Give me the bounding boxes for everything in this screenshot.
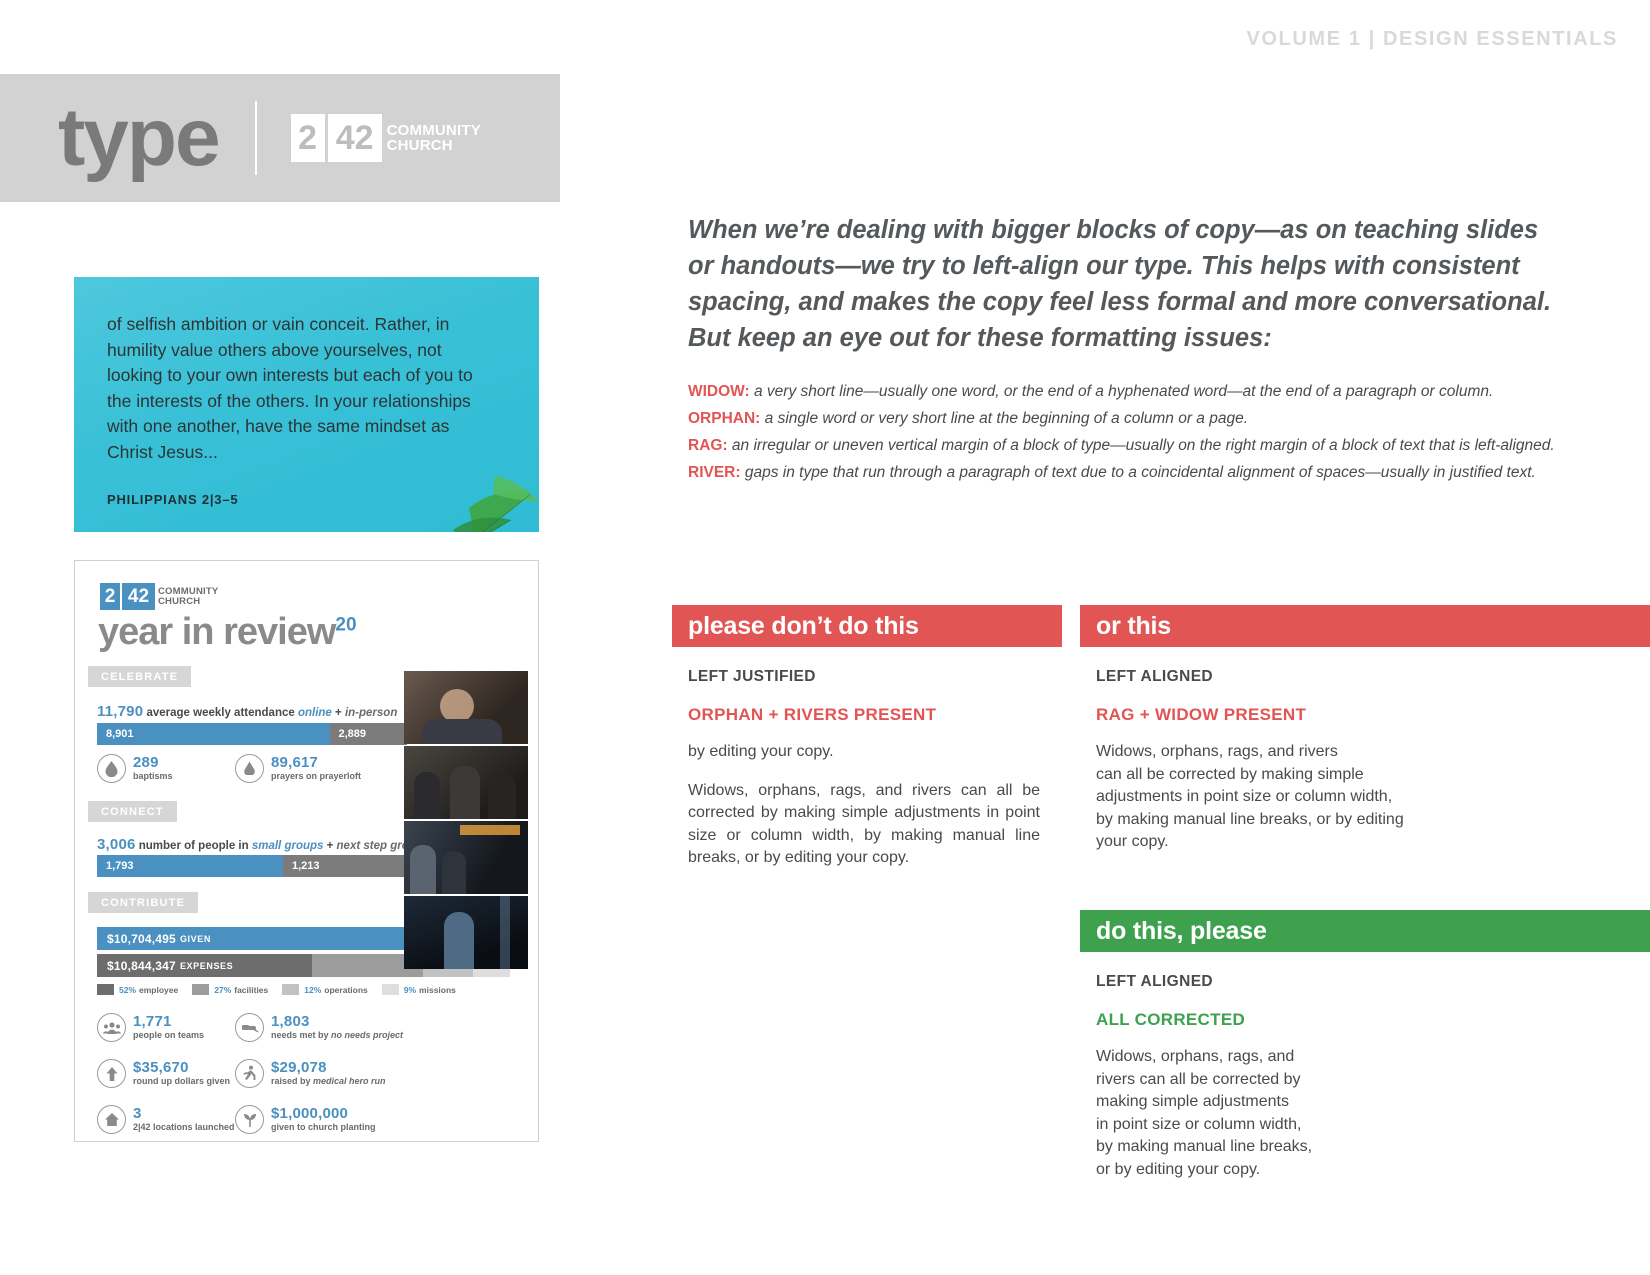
attendance-bar-online: 8,901 — [97, 723, 330, 745]
bad-example-label-right: or this — [1096, 612, 1171, 641]
stat-church-planting-text: $1,000,000 given to church planting — [271, 1106, 376, 1133]
title-block: type 2 42 COMMUNITY CHURCH — [0, 74, 560, 202]
stat-church-planting-label: given to church planting — [271, 1121, 376, 1133]
stat-people-on-teams-value: 1,771 — [133, 1014, 204, 1029]
stat-people-on-teams-text: 1,771 people on teams — [133, 1014, 204, 1041]
stat-needs-met-label-italic: no needs project — [331, 1030, 403, 1040]
infographic-logo-box-42: 42 — [122, 583, 155, 610]
given-suffix: GIVEN — [180, 934, 211, 944]
infographic-title-year: 20 — [335, 614, 356, 635]
legend-label-operations: operations — [324, 985, 367, 995]
year-in-review-infographic: 2 42 COMMUNITY CHURCH year in review20 C… — [74, 560, 539, 1142]
attendance-label-online: online — [298, 707, 332, 719]
corrected-line-6: or by editing your copy. — [1096, 1159, 1526, 1182]
corrected-kicker: LEFT ALIGNED — [1096, 973, 1526, 991]
stat-baptisms-label: baptisms — [133, 770, 173, 782]
stat-needs-met-text: 1,803 needs met by no needs project — [271, 1014, 403, 1041]
stat-needs-met: 1,803 needs met by no needs project — [235, 1013, 403, 1042]
justified-orphan-line: by editing your copy. — [688, 741, 1040, 764]
corrected-line-2: rivers can all be corrected by — [1096, 1069, 1526, 1092]
brand-logo: 2 42 COMMUNITY CHURCH — [291, 114, 481, 162]
attendance-label-mid: + — [332, 707, 345, 719]
stat-round-up-label: round up dollars given — [133, 1075, 230, 1087]
photo-gathering — [404, 746, 528, 819]
stat-locations-value: 3 — [133, 1106, 235, 1121]
page-title: type — [58, 101, 219, 175]
good-example-label: do this, please — [1096, 917, 1267, 946]
legend-label-facilities: facilities — [234, 985, 268, 995]
stat-church-planting: $1,000,000 given to church planting — [235, 1105, 376, 1134]
scripture-reference: PHILIPPIANS 2|3–5 — [107, 492, 238, 507]
example-column-corrected: LEFT ALIGNED ALL CORRECTED Widows, orpha… — [1096, 973, 1526, 1181]
rag-widow-line-1: Widows, orphans, rags, and rivers — [1096, 741, 1526, 764]
helping-hand-icon — [235, 1013, 264, 1042]
attendance-bar-inperson: 2,889 — [330, 723, 408, 745]
stat-hero-run: $29,078 raised by medical hero run — [235, 1059, 386, 1088]
up-arrow-icon — [97, 1059, 126, 1088]
logo-wordmark: COMMUNITY CHURCH — [387, 123, 481, 153]
example-column-justified: LEFT JUSTIFIED ORPHAN + RIVERS PRESENT b… — [688, 668, 1040, 870]
expenses-segment-employee: $10,844,347 EXPENSES — [97, 954, 312, 977]
rag-widow-line-5: your copy. — [1096, 831, 1526, 854]
logo-box-42: 42 — [328, 114, 382, 162]
connect-label-smallgroups: small groups — [252, 840, 324, 852]
rag-widow-line-2: can all be corrected by making simple — [1096, 764, 1526, 787]
expenses-amount: $10,844,347 — [107, 959, 176, 973]
justified-body: Widows, orphans, rags, and rivers can al… — [688, 780, 1040, 870]
logo-box-2: 2 — [291, 114, 325, 162]
definition-river: RIVER: gaps in type that run through a p… — [688, 459, 1568, 486]
stat-hero-run-value: $29,078 — [271, 1060, 386, 1075]
infographic-logo-wordmark: COMMUNITY CHURCH — [158, 587, 218, 606]
rag-widow-body: Widows, orphans, rags, and rivers can al… — [1096, 741, 1526, 854]
stat-prayers-value: 89,617 — [271, 755, 361, 770]
stat-hero-run-label: raised by medical hero run — [271, 1075, 386, 1087]
stat-needs-met-label-text: needs met by — [271, 1030, 331, 1040]
stat-round-up: $35,670 round up dollars given — [97, 1059, 230, 1088]
justified-status: ORPHAN + RIVERS PRESENT — [688, 705, 1040, 725]
example-column-rag-widow: LEFT ALIGNED RAG + WIDOW PRESENT Widows,… — [1096, 668, 1526, 854]
connect-stat-line: 3,006 number of people in small groups +… — [97, 836, 429, 853]
title-divider — [255, 101, 257, 175]
definition-rag: RAG: an irregular or uneven vertical mar… — [688, 432, 1568, 459]
logo-wordmark-line2: CHURCH — [387, 138, 481, 153]
section-tag-celebrate: CELEBRATE — [88, 666, 191, 687]
rag-widow-line-3: adjustments in point size or column widt… — [1096, 786, 1526, 809]
legend-swatch-facilities — [192, 984, 209, 995]
stat-hero-run-label-text: raised by — [271, 1076, 313, 1086]
infographic-logo-box-2: 2 — [100, 583, 120, 610]
attendance-value: 11,790 — [97, 703, 143, 720]
stat-prayers: 89,617 prayers on prayerloft — [235, 754, 361, 783]
stat-needs-met-value: 1,803 — [271, 1014, 403, 1029]
expenses-legend: 52% employee 27% facilities 12% operatio… — [97, 984, 470, 995]
legend-pct-facilities: 27% — [214, 985, 231, 995]
section-tag-contribute: CONTRIBUTE — [88, 892, 198, 913]
legend-pct-operations: 12% — [304, 985, 321, 995]
palm-leaf-icon — [435, 446, 539, 532]
definition-river-text: gaps in type that run through a paragrap… — [741, 464, 1536, 481]
corrected-line-4: in point size or column width, — [1096, 1114, 1526, 1137]
section-tag-connect: CONNECT — [88, 801, 177, 822]
praying-hands-icon — [235, 754, 264, 783]
infographic-logo-line2: CHURCH — [158, 597, 218, 607]
stat-needs-met-label: needs met by no needs project — [271, 1029, 403, 1041]
rag-widow-status: RAG + WIDOW PRESENT — [1096, 705, 1526, 725]
infographic-title-text: year in review — [98, 611, 335, 653]
legend-pct-employee: 52% — [119, 985, 136, 995]
legend-swatch-employee — [97, 984, 114, 995]
definition-orphan-text: a single word or very short line at the … — [760, 410, 1248, 427]
definition-orphan-term: ORPHAN: — [688, 410, 760, 427]
legend-item-facilities: 27% facilities — [192, 984, 268, 995]
connect-bar-nextstep: 1,213 — [283, 855, 407, 877]
definition-river-term: RIVER: — [688, 464, 741, 481]
intro-paragraph: When we’re dealing with bigger blocks of… — [688, 212, 1568, 356]
house-icon — [97, 1105, 126, 1134]
photo-baptism — [404, 671, 528, 744]
legend-label-missions: missions — [419, 985, 456, 995]
photo-column — [404, 671, 528, 971]
connect-bar: 1,793 1,213 — [97, 855, 407, 877]
connect-value: 3,006 — [97, 836, 136, 853]
people-group-icon — [97, 1013, 126, 1042]
stat-locations-label: 2|42 locations launched — [133, 1121, 235, 1133]
given-amount: $10,704,495 — [107, 932, 176, 946]
definition-orphan: ORPHAN: a single word or very short line… — [688, 405, 1568, 432]
legend-pct-missions: 9% — [404, 985, 416, 995]
rag-widow-line-4: by making manual line breaks, or by edit… — [1096, 809, 1526, 832]
rag-widow-kicker: LEFT ALIGNED — [1096, 668, 1526, 686]
scripture-card: of selfish ambition or vain conceit. Rat… — [74, 277, 539, 532]
legend-swatch-missions — [382, 984, 399, 995]
corrected-line-3: making simple adjustments — [1096, 1091, 1526, 1114]
stat-church-planting-value: $1,000,000 — [271, 1106, 376, 1121]
sprout-icon — [235, 1105, 264, 1134]
definitions-list: WIDOW: a very short line—usually one wor… — [688, 378, 1568, 486]
legend-swatch-operations — [282, 984, 299, 995]
volume-header: VOLUME 1 | DESIGN ESSENTIALS — [1246, 28, 1618, 51]
water-drop-icon — [97, 754, 126, 783]
attendance-stat-line: 11,790 average weekly attendance online … — [97, 703, 397, 720]
legend-item-missions: 9% missions — [382, 984, 456, 995]
stat-locations: 3 2|42 locations launched — [97, 1105, 235, 1134]
legend-item-employee: 52% employee — [97, 984, 178, 995]
stat-hero-run-text: $29,078 raised by medical hero run — [271, 1060, 386, 1087]
expenses-suffix: EXPENSES — [180, 961, 233, 971]
definition-widow-term: WIDOW: — [688, 383, 750, 400]
attendance-label-inperson: in-person — [345, 707, 397, 719]
corrected-line-1: Widows, orphans, rags, and — [1096, 1046, 1526, 1069]
corrected-body: Widows, orphans, rags, and rivers can al… — [1096, 1046, 1526, 1181]
stat-prayers-text: 89,617 prayers on prayerloft — [271, 755, 361, 782]
photo-lobby — [404, 821, 528, 894]
stat-baptisms-text: 289 baptisms — [133, 755, 173, 782]
stat-round-up-text: $35,670 round up dollars given — [133, 1060, 230, 1087]
stat-people-on-teams: 1,771 people on teams — [97, 1013, 204, 1042]
scripture-text: of selfish ambition or vain conceit. Rat… — [107, 312, 477, 465]
justified-kicker: LEFT JUSTIFIED — [688, 668, 1040, 686]
photo-speaker — [404, 896, 528, 969]
bad-example-label-left: please don’t do this — [688, 612, 919, 641]
stat-people-on-teams-label: people on teams — [133, 1029, 204, 1041]
stat-prayers-label: prayers on prayerloft — [271, 770, 361, 782]
legend-item-operations: 12% operations — [282, 984, 367, 995]
legend-label-employee: employee — [139, 985, 178, 995]
attendance-bar: 8,901 2,889 — [97, 723, 407, 745]
definition-rag-text: an irregular or uneven vertical margin o… — [728, 437, 1555, 454]
stat-hero-run-label-italic: medical hero run — [313, 1076, 386, 1086]
stat-baptisms-value: 289 — [133, 755, 173, 770]
runner-icon — [235, 1059, 264, 1088]
infographic-logo: 2 42 COMMUNITY CHURCH — [100, 583, 218, 610]
definition-widow-text: a very short line—usually one word, or t… — [750, 383, 1494, 400]
definition-widow: WIDOW: a very short line—usually one wor… — [688, 378, 1568, 405]
connect-bar-smallgroups: 1,793 — [97, 855, 283, 877]
stat-round-up-value: $35,670 — [133, 1060, 230, 1075]
attendance-label-pre: average weekly attendance — [146, 707, 298, 719]
connect-label-mid: + — [323, 840, 336, 852]
corrected-line-5: by making manual line breaks, — [1096, 1136, 1526, 1159]
stat-baptisms: 289 baptisms — [97, 754, 173, 783]
stat-locations-text: 3 2|42 locations launched — [133, 1106, 235, 1133]
connect-label-pre: number of people in — [139, 840, 252, 852]
page-root: VOLUME 1 | DESIGN ESSENTIALS type 2 42 C… — [0, 0, 1650, 1275]
corrected-status: ALL CORRECTED — [1096, 1010, 1526, 1030]
logo-wordmark-line1: COMMUNITY — [387, 123, 481, 138]
infographic-title: year in review20 — [98, 611, 357, 654]
definition-rag-term: RAG: — [688, 437, 728, 454]
